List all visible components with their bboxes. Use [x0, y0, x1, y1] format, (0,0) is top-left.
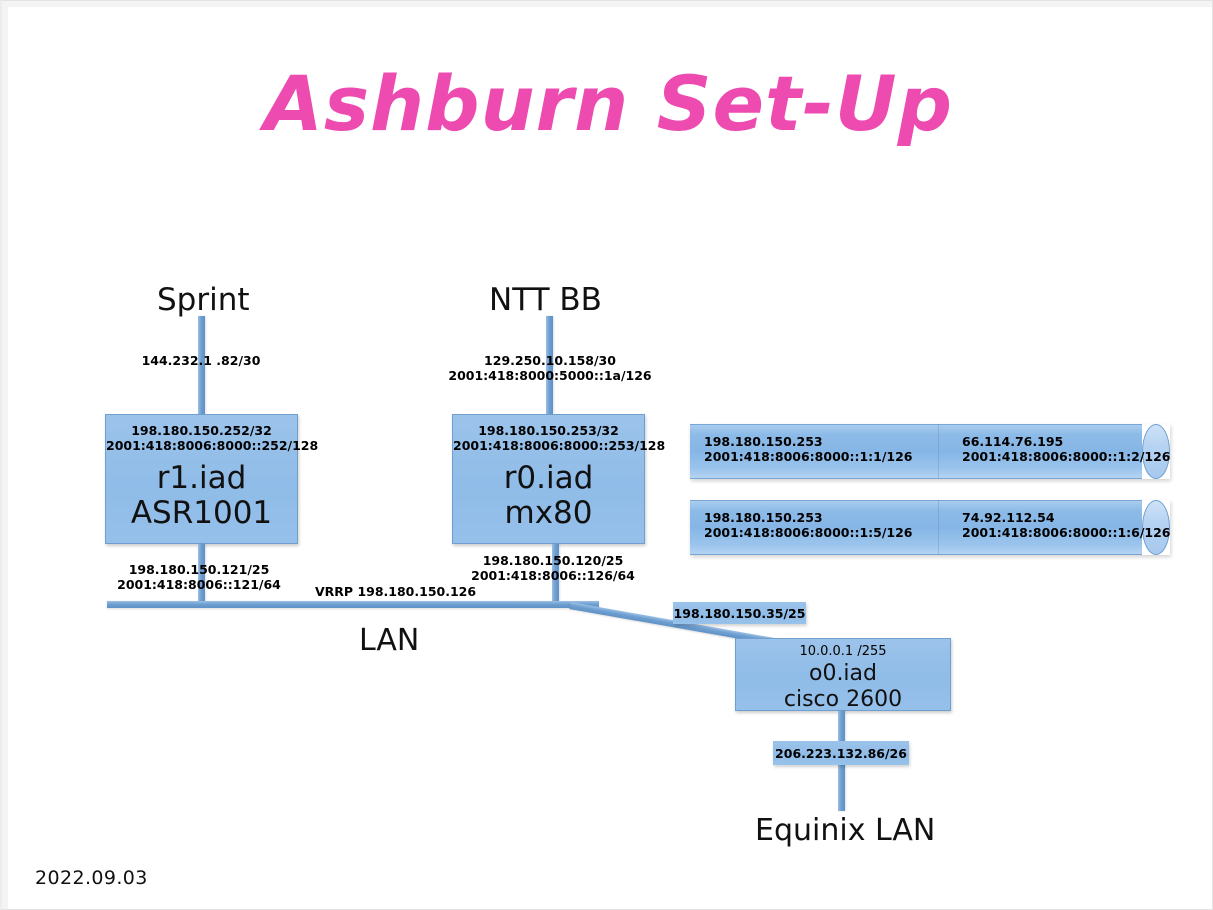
peering-2-right-endpoint: 74.92.112.54 2001:418:8006:8000::1:6/126 [962, 510, 1171, 540]
peering-cylinder-1-seam [938, 424, 939, 479]
page-title: Ashburn Set-Up [2, 59, 1213, 148]
device-r0-iad-ip-line2: 2001:418:8006:8000::253/128 [453, 438, 644, 453]
peering-cylinder-2-seam [938, 500, 939, 555]
peering-1-left-ipv4: 198.180.150.253 [704, 434, 913, 449]
lan-vrrp-label: VRRP 198.180.150.126 [315, 584, 515, 599]
equinix-lan-label: Equinix LAN [755, 813, 935, 848]
device-r0-iad-ip-line1: 198.180.150.253/32 [453, 423, 644, 438]
device-r1-iad-name: r1.iad ASR1001 [106, 461, 297, 531]
device-r0-iad-hostname: r0.iad [453, 461, 644, 496]
peering-1-left-ipv6: 2001:418:8006:8000::1:1/126 [704, 449, 913, 464]
r0-iad-lan-ip-line2: 2001:418:8006::126/64 [418, 568, 688, 583]
cisco-uplink-ip-tag: 198.180.150.35/25 [673, 602, 806, 624]
device-o0-iad-mgmt-ip: 10.0.0.1 /255 [736, 644, 950, 659]
device-box-r0-iad[interactable]: 198.180.150.253/32 2001:418:8006:8000::2… [452, 414, 645, 544]
lan-label: LAN [359, 623, 419, 658]
slide-frame-top-edge [2, 1, 1213, 7]
ntt-link-ip-line2: 2001:418:8000:5000::1a/126 [415, 368, 685, 383]
peering-2-right-ipv4: 74.92.112.54 [962, 510, 1171, 525]
r1-iad-lan-ip-line2: 2001:418:8006::121/64 [64, 577, 334, 592]
device-box-o0-iad[interactable]: 10.0.0.1 /255 o0.iad cisco 2600 [735, 638, 951, 711]
peering-1-right-endpoint: 66.114.76.195 2001:418:8006:8000::1:2/12… [962, 434, 1171, 464]
device-r1-iad-model: ASR1001 [106, 496, 297, 531]
device-o0-iad-model: cisco 2600 [736, 687, 950, 713]
peering-2-left-ipv4: 198.180.150.253 [704, 510, 913, 525]
device-r0-iad-ip: 198.180.150.253/32 2001:418:8006:8000::2… [453, 423, 644, 453]
peering-1-right-ipv4: 66.114.76.195 [962, 434, 1171, 449]
date-stamp: 2022.09.03 [35, 867, 148, 889]
device-o0-iad-hostname: o0.iad [736, 661, 950, 687]
provider-label-sprint: Sprint [157, 282, 250, 318]
r1-iad-lan-ip: 198.180.150.121/25 2001:418:8006::121/64 [64, 562, 334, 592]
device-r0-iad-name: r0.iad mx80 [453, 461, 644, 531]
sprint-link-ip-line1: 144.232.1 .82/30 [142, 353, 261, 368]
sprint-link-ip: 144.232.1 .82/30 [66, 353, 336, 368]
device-r1-iad-hostname: r1.iad [106, 461, 297, 496]
peering-2-left-ipv6: 2001:418:8006:8000::1:5/126 [704, 525, 913, 540]
r0-iad-lan-ip: 198.180.150.120/25 2001:418:8006::126/64 [418, 553, 688, 583]
device-box-r1-iad[interactable]: 198.180.150.252/32 2001:418:8006:8000::2… [105, 414, 298, 544]
device-r1-iad-ip-line1: 198.180.150.252/32 [106, 423, 297, 438]
lan-bus-line [107, 601, 599, 608]
r0-iad-lan-ip-line1: 198.180.150.120/25 [418, 553, 688, 568]
provider-label-ntt: NTT BB [489, 282, 602, 318]
ntt-link-ip-line1: 129.250.10.158/30 [415, 353, 685, 368]
peering-2-right-ipv6: 2001:418:8006:8000::1:6/126 [962, 525, 1171, 540]
peering-cylinder-2[interactable]: 198.180.150.253 2001:418:8006:8000::1:5/… [690, 500, 1170, 555]
peering-1-right-ipv6: 2001:418:8006:8000::1:2/126 [962, 449, 1171, 464]
device-r1-iad-ip-line2: 2001:418:8006:8000::252/128 [106, 438, 297, 453]
peering-2-left-endpoint: 198.180.150.253 2001:418:8006:8000::1:5/… [704, 510, 913, 540]
device-o0-iad-name: o0.iad cisco 2600 [736, 661, 950, 713]
peering-cylinder-1[interactable]: 198.180.150.253 2001:418:8006:8000::1:1/… [690, 424, 1170, 479]
slide-canvas: Ashburn Set-Up Sprint 144.232.1 .82/30 N… [0, 0, 1213, 910]
device-r1-iad-ip: 198.180.150.252/32 2001:418:8006:8000::2… [106, 423, 297, 453]
r1-iad-lan-ip-line1: 198.180.150.121/25 [64, 562, 334, 577]
ntt-link-ip: 129.250.10.158/30 2001:418:8000:5000::1a… [415, 353, 685, 383]
peering-1-left-endpoint: 198.180.150.253 2001:418:8006:8000::1:1/… [704, 434, 913, 464]
device-r0-iad-model: mx80 [453, 496, 644, 531]
cisco-downlink-ip-tag: 206.223.132.86/26 [773, 741, 909, 765]
